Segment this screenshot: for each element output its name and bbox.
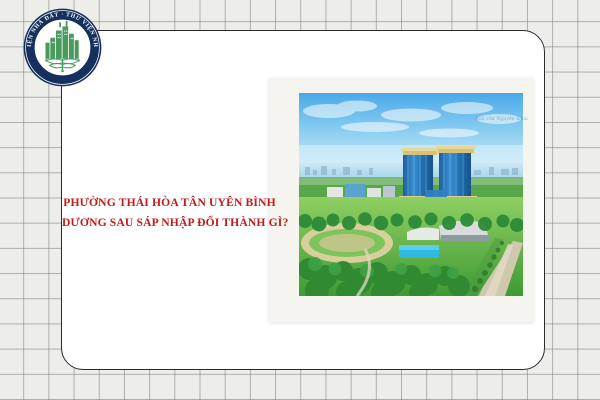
poster-page: PHƯỜNG THÁI HÒA TÂN UYÊN BÌNH DƯƠNG SAU … xyxy=(0,0,600,400)
photo-watermark: Ảnh của Nguyễn Khải xyxy=(475,116,528,122)
aerial-city-illustration xyxy=(299,93,523,296)
page-title-line-2: DƯƠNG SAU SÁP NHẬP ĐỔI THÀNH GÌ? xyxy=(62,213,277,233)
photo-image xyxy=(299,93,523,296)
photo-frame: Ảnh của Nguyễn Khải xyxy=(269,78,533,322)
page-title: PHƯỜNG THÁI HÒA TÂN UYÊN BÌNH DƯƠNG SAU … xyxy=(62,193,277,232)
page-title-line-1: PHƯỜNG THÁI HÒA TÂN UYÊN BÌNH xyxy=(62,193,277,213)
thu-vien-nha-dat-logo: THƯ VIỆN NHÀ ĐẤT · THƯ VIỆN NHÀ ĐẤT www.… xyxy=(22,7,103,88)
